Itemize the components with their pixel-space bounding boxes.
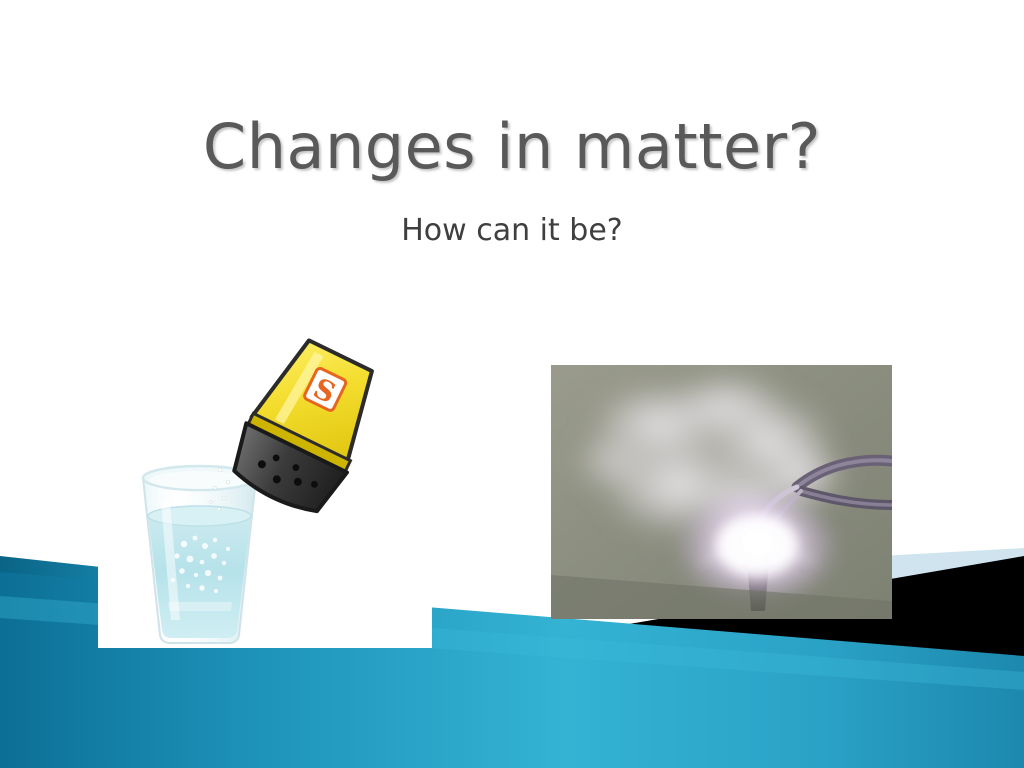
page-title: Changes in matter? [0,110,1024,183]
slide: Changes in matter? How can it be? [0,0,1024,768]
salt-shaker-water-illustration: S [98,330,432,648]
glass-of-water-icon [143,466,256,643]
electric-spark-photo [551,365,892,619]
page-subtitle: How can it be? [0,213,1024,248]
electric-spark-image [551,365,892,619]
salt-shaker-water-image: S [98,330,432,648]
